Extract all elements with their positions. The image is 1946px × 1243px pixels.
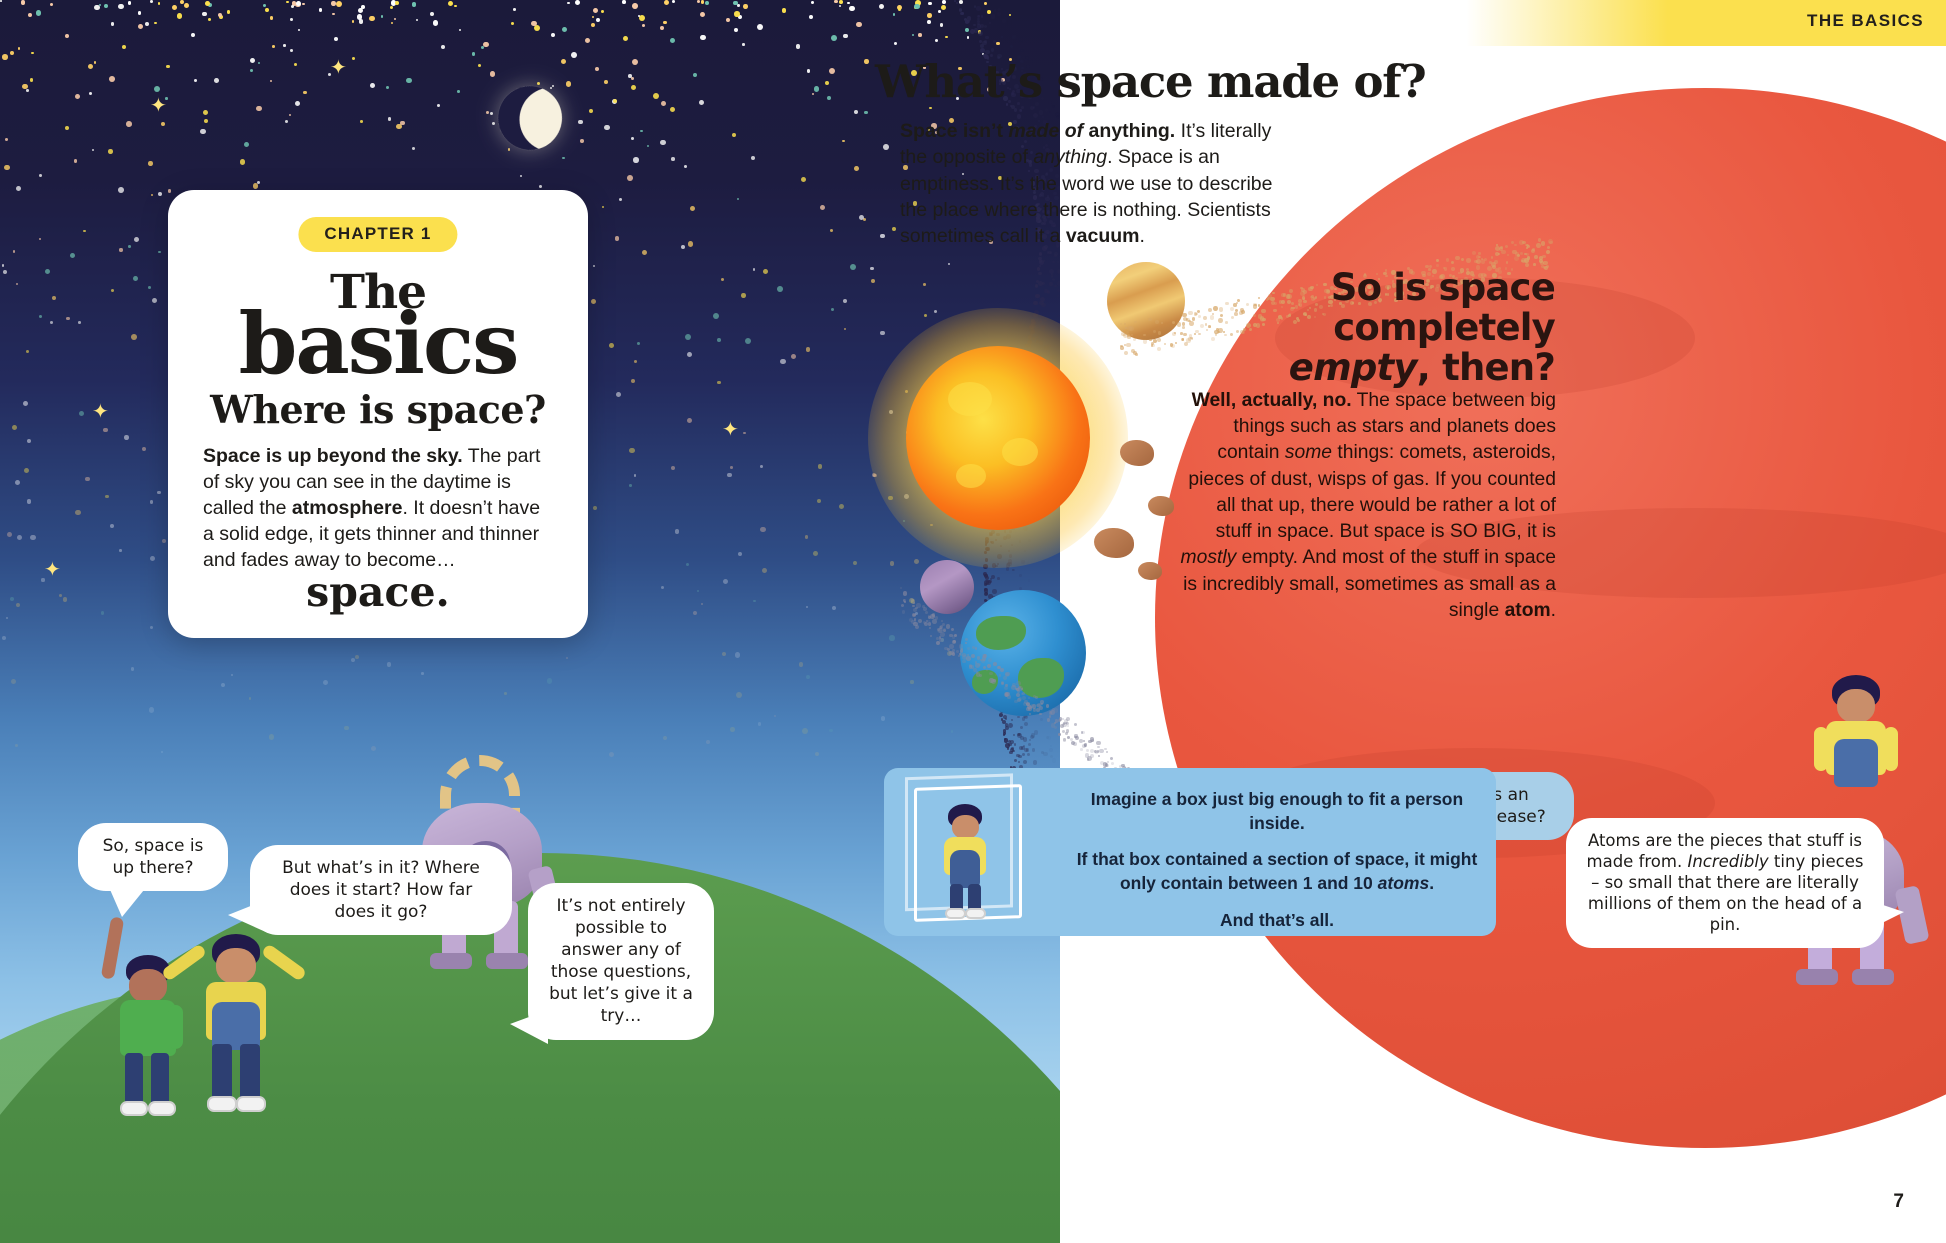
asteroid-4 xyxy=(1138,562,1162,580)
asteroid-3 xyxy=(1094,528,1134,558)
section-subtitle: Where is space? xyxy=(168,387,588,432)
intro-bold-italic: made of xyxy=(1008,120,1083,142)
body-bold2: atmosphere xyxy=(292,497,403,519)
speech-tail xyxy=(108,885,148,917)
box-girl-face xyxy=(952,815,979,839)
girl-overalls xyxy=(212,1002,260,1050)
girl-in-box xyxy=(932,804,998,920)
box-girl-shoe-right xyxy=(965,908,986,919)
planet-heading-line3-rest: , then? xyxy=(1417,346,1555,389)
planet-jupiter xyxy=(1107,262,1185,340)
robot-right-italic: Incredibly xyxy=(1687,852,1768,871)
intro-bold-1: Space isn’t xyxy=(900,120,1008,142)
info-line-2: If that box contained a section of space… xyxy=(1072,848,1482,895)
girl-face xyxy=(216,948,256,984)
girl-leg-right xyxy=(240,1044,260,1100)
girl-right-overalls xyxy=(1834,739,1878,787)
chapter-card: CHAPTER 1 The basics Where is space? Spa… xyxy=(168,190,588,638)
sun xyxy=(906,346,1090,530)
chapter-body-text: Space is up beyond the sky. The part of … xyxy=(203,444,555,574)
box-girl-overalls xyxy=(950,850,980,888)
boy-leg-right xyxy=(151,1053,169,1105)
robot-foot-left xyxy=(430,953,472,969)
robot-foot-right xyxy=(486,953,528,969)
info-line-1: Imagine a box just big enough to fit a p… xyxy=(1072,788,1482,835)
planet-heading-line3-italic: empty xyxy=(1289,346,1417,389)
planet-body-3: empty. And most of the stuff in space is… xyxy=(1183,547,1556,620)
intro-end: . xyxy=(1140,225,1145,247)
page-number: 7 xyxy=(1893,1191,1904,1213)
speech-tail xyxy=(1868,900,1904,930)
speech-bubble-robot-left-text: It’s not entirely possible to answer any… xyxy=(549,896,693,1026)
space-emphasis-word: space. xyxy=(168,568,588,616)
girl-right-face xyxy=(1837,689,1875,723)
planet-purple xyxy=(920,560,974,614)
asteroid-1 xyxy=(1120,440,1154,466)
info-box: Imagine a box just big enough to fit a p… xyxy=(884,768,1496,936)
planet-heading: So is space completely empty, then? xyxy=(1285,268,1555,388)
girl-figure-right xyxy=(1808,675,1904,815)
girl-leg-left xyxy=(212,1044,232,1100)
info-line-2-italic: atoms xyxy=(1378,873,1430,893)
girl-shoe-right xyxy=(236,1096,266,1112)
body-lead: Space is up beyond the sky. xyxy=(203,445,463,467)
page-heading: What’s space made of? xyxy=(875,55,1426,108)
speech-bubble-boy-text: So, space is up there? xyxy=(103,836,204,878)
box-girl-shoe-left xyxy=(945,908,966,919)
header-banner-label: THE BASICS xyxy=(1807,11,1924,31)
boy-shoe-right xyxy=(148,1101,176,1116)
intro-bold-3: vacuum xyxy=(1066,225,1140,247)
asteroid-2 xyxy=(1148,496,1174,516)
chapter-badge: CHAPTER 1 xyxy=(298,217,457,252)
chapter-title-line2: basics xyxy=(168,302,588,386)
boy-leg-left xyxy=(125,1053,143,1105)
robot-right-foot-right xyxy=(1852,969,1894,985)
planet-heading-line2: completely xyxy=(1333,306,1555,349)
speech-tail xyxy=(228,899,268,933)
boy-shoe-left xyxy=(120,1101,148,1116)
girl-figure xyxy=(178,932,298,1112)
speech-tail xyxy=(510,1010,548,1044)
intro-paragraph: Space isn’t made of anything. It’s liter… xyxy=(900,118,1280,250)
planet-body-text: Well, actually, no. The space between bi… xyxy=(1178,388,1556,624)
speech-bubble-robot-right: Atoms are the pieces that stuff is made … xyxy=(1566,818,1884,948)
planet-heading-line1: So is space xyxy=(1331,266,1555,309)
speech-bubble-robot-left: It’s not entirely possible to answer any… xyxy=(528,883,714,1040)
planet-body-italic-2: mostly xyxy=(1181,547,1237,568)
info-line-3: And that’s all. xyxy=(1072,909,1482,933)
info-box-text: Imagine a box just big enough to fit a p… xyxy=(1072,788,1482,945)
speech-bubble-girl: But what’s in it? Where does it start? H… xyxy=(250,845,512,935)
girl-shoe-left xyxy=(207,1096,237,1112)
header-banner: THE BASICS xyxy=(1466,0,1946,46)
intro-bold-2: anything. xyxy=(1083,120,1175,142)
book-spread: ✦✦✦✦✦✦ CHAPTER 1 The basics Where is spa… xyxy=(0,0,1946,1243)
speech-bubble-girl-text: But what’s in it? Where does it start? H… xyxy=(282,858,480,922)
info-line-2b: . xyxy=(1429,873,1434,893)
planet-lead: Well, actually, no. xyxy=(1192,390,1352,411)
planet-body-bold: atom xyxy=(1505,600,1551,621)
intro-italic-2: anything xyxy=(1033,146,1107,168)
planet-body-end: . xyxy=(1551,600,1556,621)
girl-right-arm-left xyxy=(1814,727,1828,771)
planet-body-italic-1: some xyxy=(1285,442,1332,463)
robot-right-foot-left xyxy=(1796,969,1838,985)
girl-right-arm-right xyxy=(1884,727,1898,771)
boy-face xyxy=(129,969,167,1003)
speech-bubble-boy: So, space is up there? xyxy=(78,823,228,891)
